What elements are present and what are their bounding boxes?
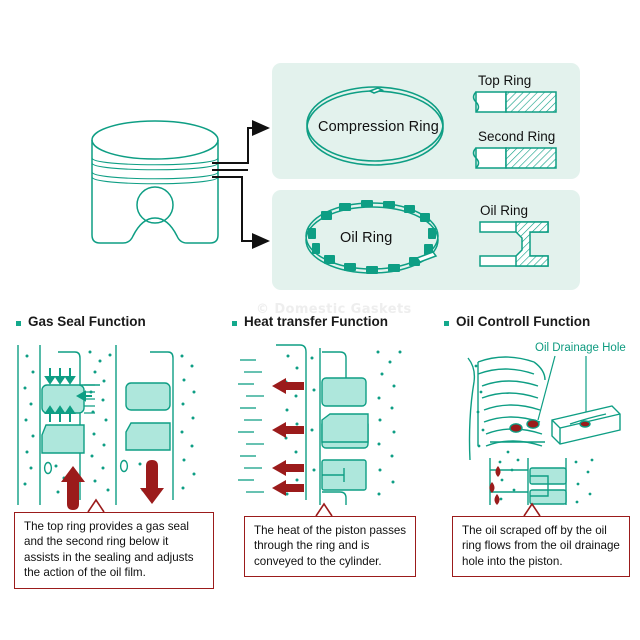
top-ring-section-label: Top Ring	[478, 73, 531, 88]
diagram-canvas: Compression Ring Oil Ring Top Ring Secon…	[0, 0, 640, 640]
connector-lines	[212, 128, 268, 241]
compression-ring-label: Compression Ring	[318, 119, 439, 135]
second-ring-cross-section	[474, 148, 557, 168]
heat-transfer-wall-hatch	[238, 360, 264, 492]
oil-drainage-hole-label: Oil Drainage Hole	[535, 342, 626, 354]
gas-seal-arrows	[61, 460, 164, 510]
top-ring-cross-section	[474, 92, 557, 112]
bullet-icon-heat-transfer	[232, 321, 237, 326]
bullet-icon-gas-seal	[16, 321, 21, 326]
oil-ring-label: Oil Ring	[340, 230, 392, 246]
heat-transfer-arrows	[272, 378, 304, 496]
second-ring-section-label: Second Ring	[478, 129, 555, 144]
callout-oil-control: The oil scraped off by the oil ring flow…	[452, 516, 630, 577]
piston-illustration	[92, 121, 218, 243]
oil-droplets	[490, 466, 501, 505]
callout-heat-transfer: The heat of the piston passes through th…	[244, 516, 416, 577]
oil-ring-section-label: Oil Ring	[480, 203, 528, 218]
oil-ring-cross-section	[480, 222, 548, 266]
callout-gas-seal: The top ring provides a gas seal and the…	[14, 512, 214, 589]
heading-gas-seal: Gas Seal Function	[28, 314, 146, 329]
heat-transfer-illustration	[276, 345, 368, 505]
bullet-icon-oil-control	[444, 321, 449, 326]
heading-heat-transfer: Heat transfer Function	[244, 314, 388, 329]
oil-control-illustration	[468, 356, 620, 505]
heading-oil-control: Oil Controll Function	[456, 314, 590, 329]
